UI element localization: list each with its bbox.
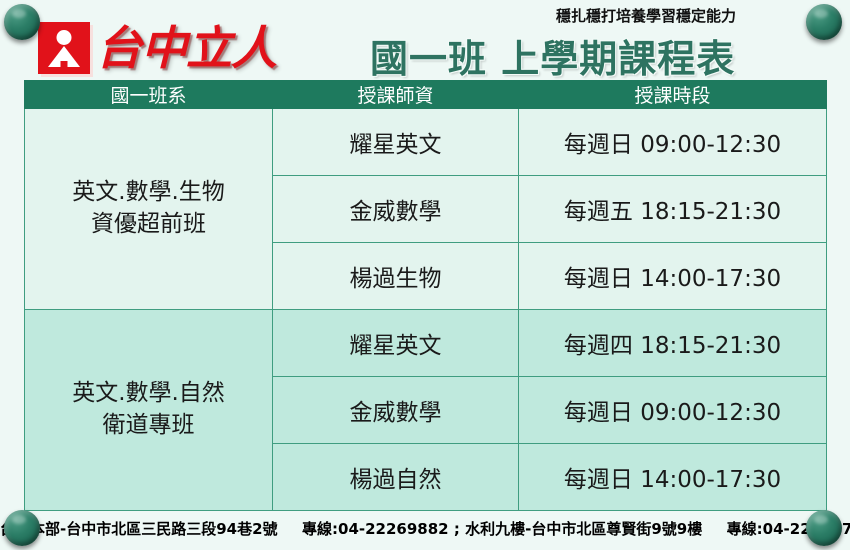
corner-bolt-top-right	[806, 4, 842, 40]
branch1-address: 台中本部-台中市北區三民路三段94巷2號	[0, 520, 278, 538]
teacher-cell: 楊過自然	[273, 444, 519, 511]
time-cell: 每週四 18:15-21:30	[519, 310, 827, 377]
table-row: 英文.數學.自然 衛道專班 耀星英文 每週四 18:15-21:30	[25, 310, 827, 377]
time-cell: 每週日 14:00-17:30	[519, 243, 827, 310]
class-name-cell-group-b: 英文.數學.自然 衛道專班	[25, 310, 273, 511]
class-name-line2: 衛道專班	[25, 410, 272, 442]
brand-name: 台中立人	[96, 22, 276, 74]
time-cell: 每週日 14:00-17:30	[519, 444, 827, 511]
teacher-cell: 耀星英文	[273, 109, 519, 176]
column-header-class: 國一班系	[25, 81, 273, 109]
corner-bolt-top-left	[4, 4, 40, 40]
person-legs-shape	[61, 61, 68, 74]
time-cell: 每週五 18:15-21:30	[519, 176, 827, 243]
teacher-cell: 金威數學	[273, 176, 519, 243]
person-mark-icon	[38, 22, 90, 74]
schedule-table: 國一班系 授課師資 授課時段 英文.數學.生物 資優超前班 耀星英文 每週日 0…	[24, 80, 827, 511]
class-name-line2: 資優超前班	[25, 209, 272, 241]
class-name-cell-group-a: 英文.數學.生物 資優超前班	[25, 109, 273, 310]
table-header-row: 國一班系 授課師資 授課時段	[25, 81, 827, 109]
time-cell: 每週日 09:00-12:30	[519, 377, 827, 444]
corner-bolt-bottom-right	[806, 510, 842, 546]
teacher-cell: 楊過生物	[273, 243, 519, 310]
branch1-phone: 專線:04-22269882	[302, 520, 449, 538]
person-head-shape	[57, 30, 72, 45]
teacher-cell: 耀星英文	[273, 310, 519, 377]
time-cell: 每週日 09:00-12:30	[519, 109, 827, 176]
branch2-address: 水利九樓-台中市北區尊賢街9號9樓	[465, 520, 702, 538]
table-row: 英文.數學.生物 資優超前班 耀星英文 每週日 09:00-12:30	[25, 109, 827, 176]
corner-bolt-bottom-left	[4, 510, 40, 546]
class-name-line1: 英文.數學.自然	[25, 378, 272, 410]
column-header-time: 授課時段	[519, 81, 827, 109]
class-name-line1: 英文.數學.生物	[25, 177, 272, 209]
tagline: 穩扎穩打培養學習穩定能力	[556, 5, 736, 26]
column-header-teacher: 授課師資	[273, 81, 519, 109]
teacher-cell: 金威數學	[273, 377, 519, 444]
page-title: 國一班 上學期課程表	[370, 28, 735, 83]
footer-contact: 台中本部-台中市北區三民路三段94巷2號 專線:04-22269882 ; 水利…	[0, 518, 850, 539]
footer-separator: ;	[454, 520, 460, 538]
brand-logo: 台中立人	[38, 22, 276, 74]
header-bar: 台中立人 穩扎穩打培養學習穩定能力 國一班 上學期課程表	[0, 0, 850, 80]
